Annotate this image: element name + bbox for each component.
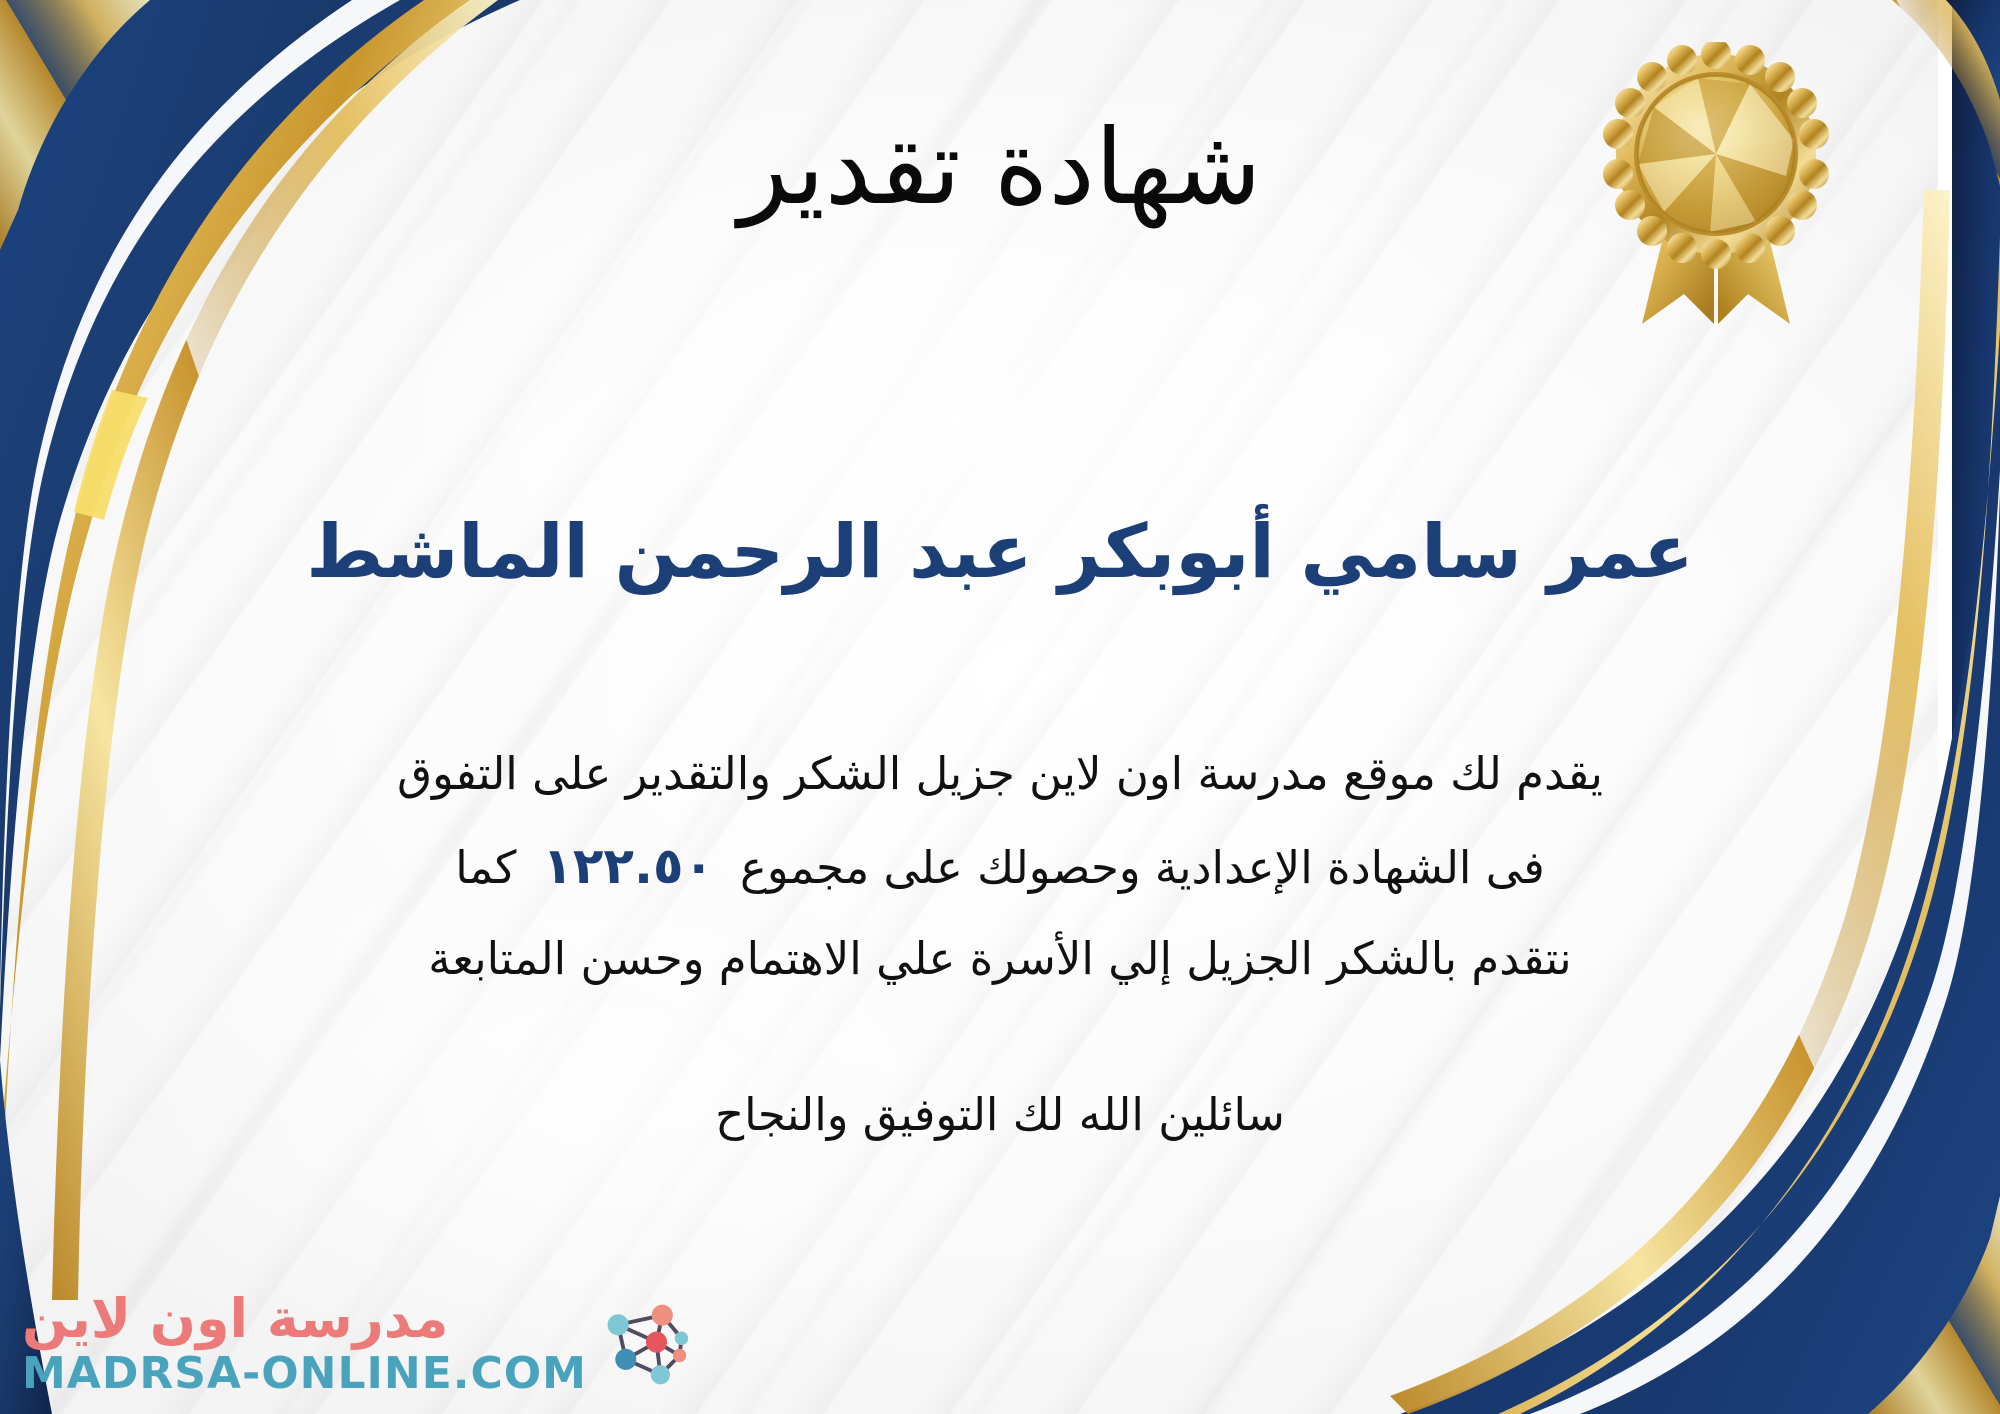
certificate-page: شهادة تقدير عمر سامي أبوبكر عبد الرحمن ا…: [0, 0, 2000, 1414]
brand-domain-text: MADRSA-ONLINE.COM: [22, 1352, 587, 1396]
grade-total-value: ١٢٢.٥٠: [516, 837, 740, 895]
brand-arabic-name: مدرسة اون لاين: [22, 1292, 448, 1346]
body-line-grade: فى الشهادة الإعدادية وحصولك على مجموع١٢٢…: [60, 818, 1940, 916]
grade-line-suffix: كما: [455, 841, 516, 894]
closing-wish-line: سائلين الله لك التوفيق والنجاح: [0, 1088, 2000, 1141]
grade-line-prefix: فى الشهادة الإعدادية وحصولك على مجموع: [740, 841, 1545, 894]
certificate-content: شهادة تقدير عمر سامي أبوبكر عبد الرحمن ا…: [0, 0, 2000, 1414]
brand-logo[interactable]: مدرسة اون لاين MADRSA-ONLINE.COM: [22, 1292, 693, 1396]
brand-logo-text: مدرسة اون لاين MADRSA-ONLINE.COM: [22, 1292, 587, 1396]
body-line-3: نتقدم بالشكر الجزيل إلي الأسرة علي الاهت…: [60, 915, 1940, 1003]
recipient-name: عمر سامي أبوبكر عبد الرحمن الماشط: [0, 508, 2000, 597]
body-line-1: يقدم لك موقع مدرسة اون لاين جزيل الشكر و…: [60, 730, 1940, 818]
certificate-title: شهادة تقدير: [0, 108, 2000, 228]
network-nodes-icon: [597, 1296, 693, 1392]
certificate-body: يقدم لك موقع مدرسة اون لاين جزيل الشكر و…: [60, 730, 1940, 1003]
